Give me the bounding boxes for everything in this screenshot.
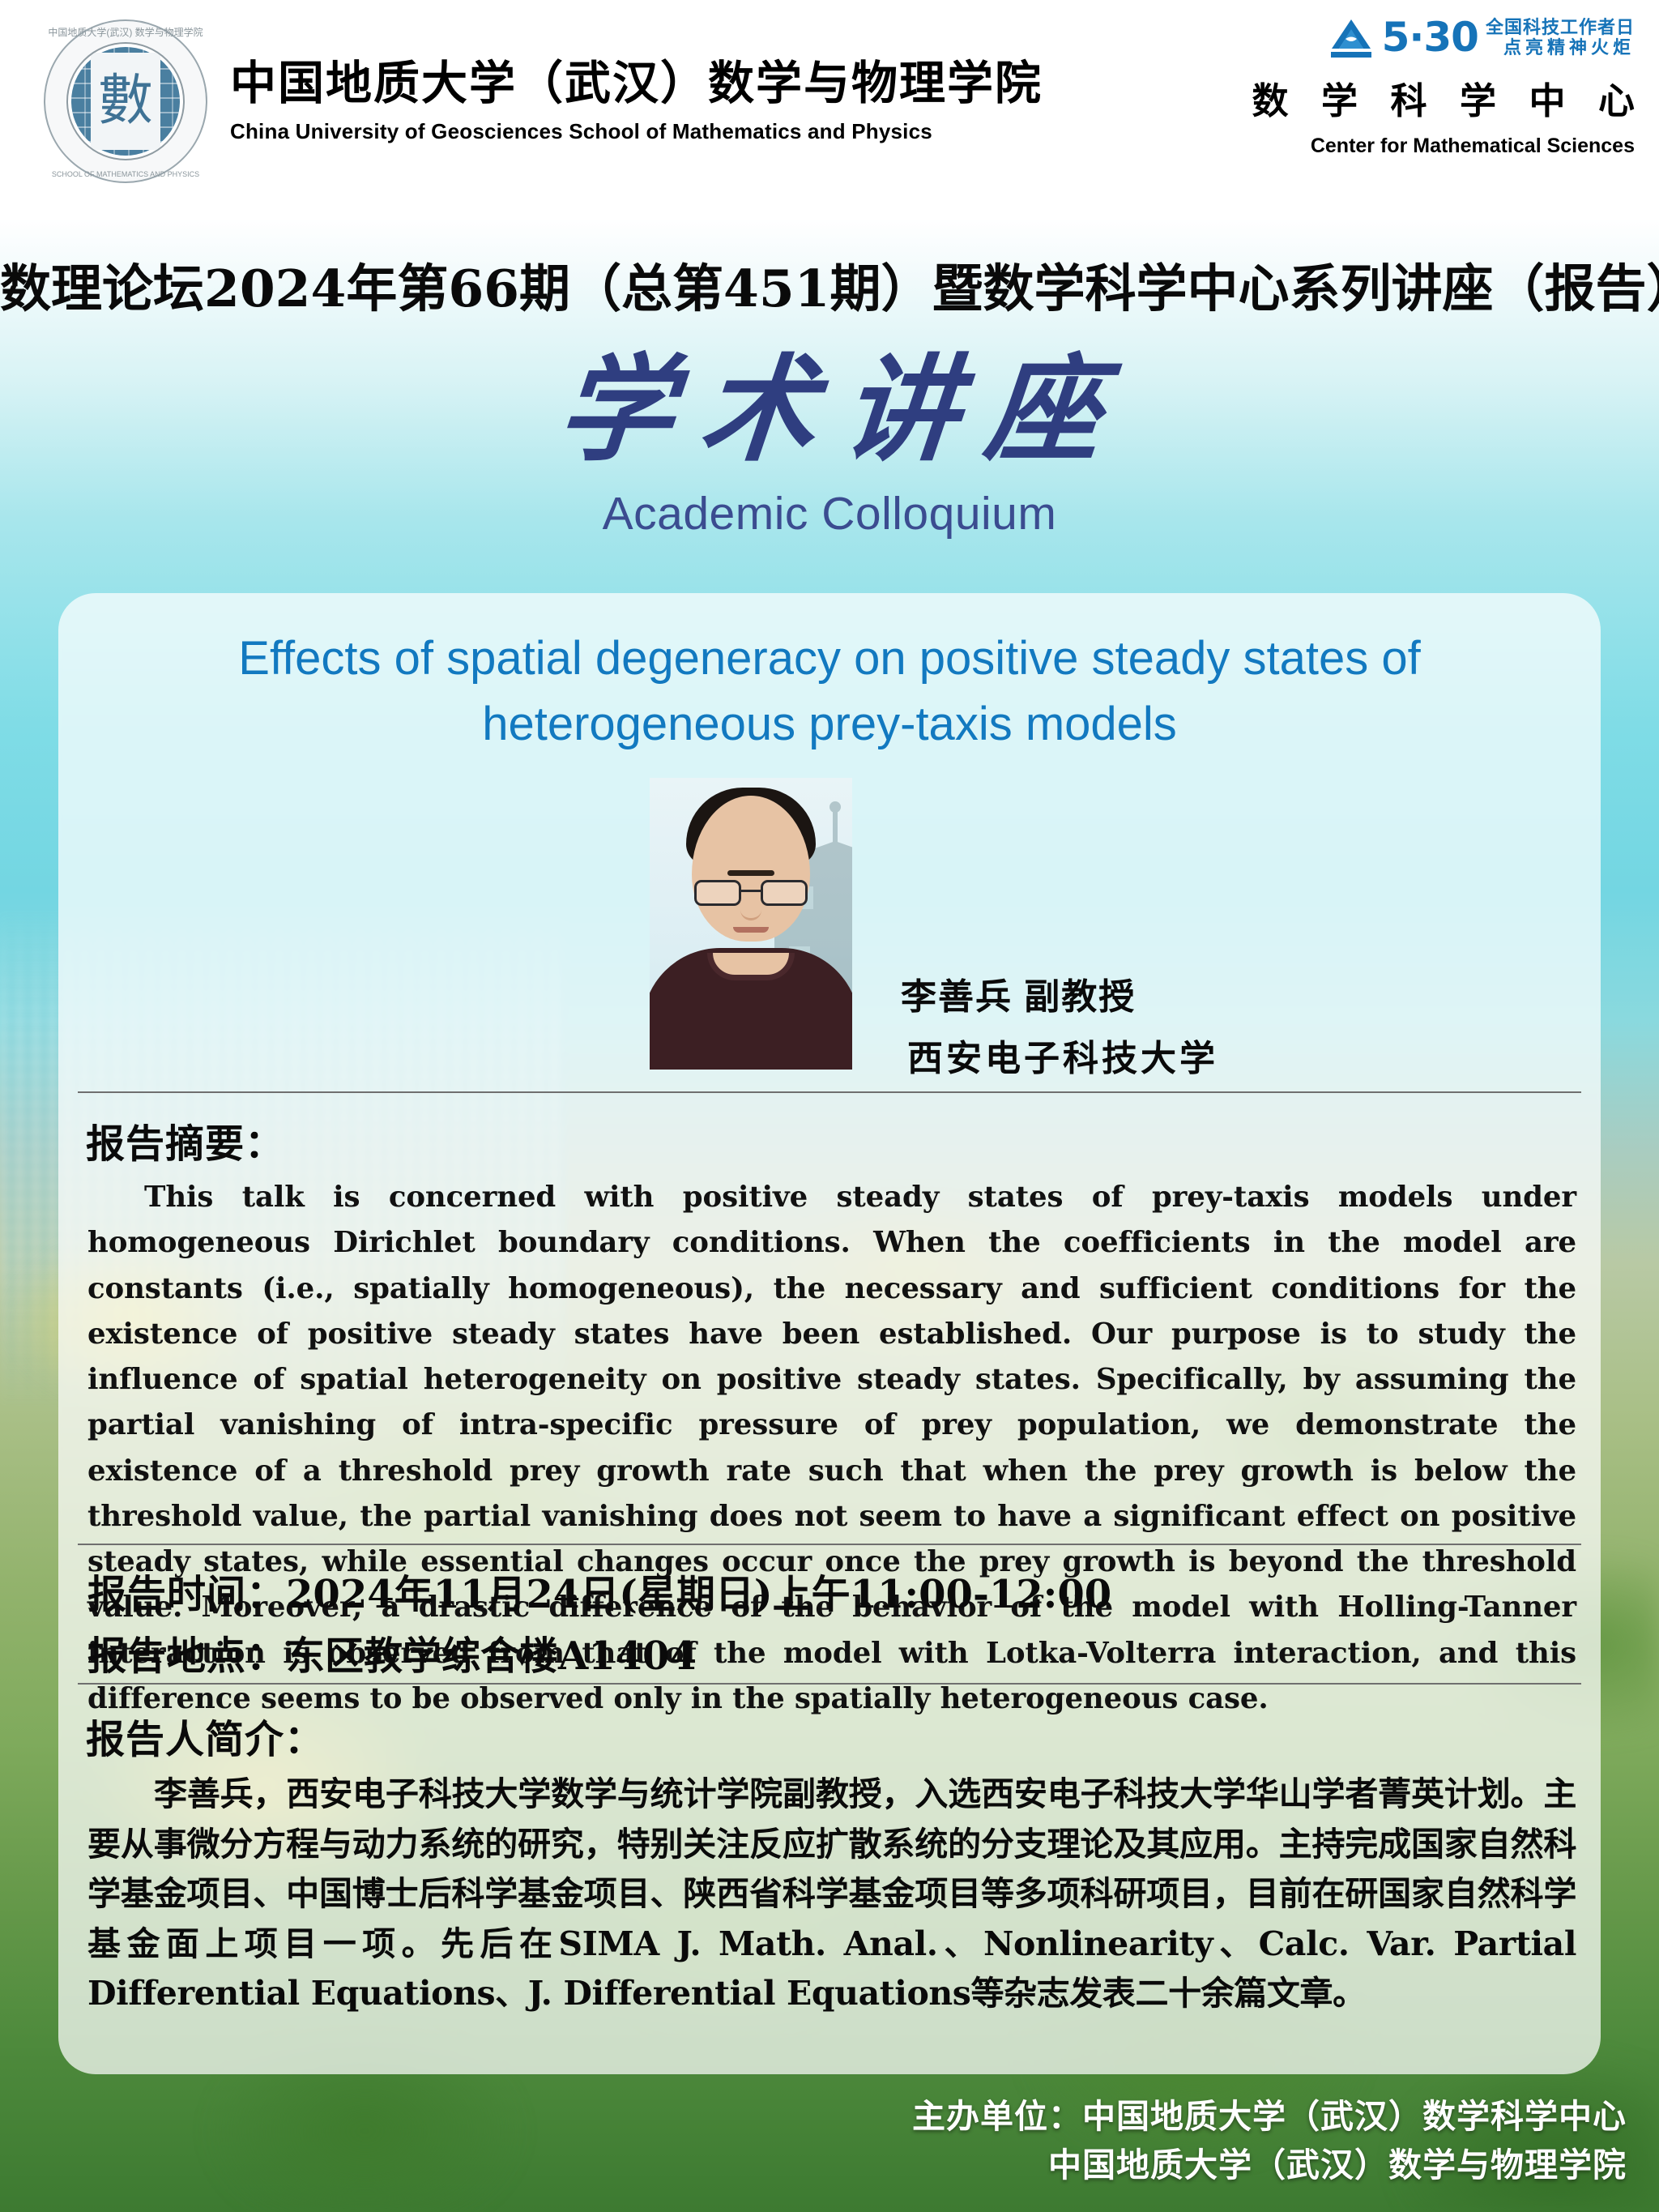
speaker-face — [692, 796, 810, 942]
science-workers-day-badge: 5·30 全国科技工作者日 点亮精神火炬 — [1252, 16, 1635, 58]
poster-root: 中国地质大学(武汉) 数学与物理学院 SCHOOL OF MATHEMATICS… — [0, 0, 1659, 2212]
footer-organizer-line1: 主办单位：中国地质大学（武汉）数学科学中心 — [912, 2093, 1627, 2141]
speaker-info: 李善兵 副教授 西安电子科技大学 — [901, 972, 1218, 1085]
header-right-group: 5·30 全国科技工作者日 点亮精神火炬 数 学 科 学 中 心 Center … — [1252, 16, 1635, 158]
emblem-arc-text-en: SCHOOL OF MATHEMATICS AND PHYSICS — [52, 170, 199, 178]
talk-title: Effects of spatial degeneracy on positiv… — [107, 626, 1552, 757]
divider-above-meta — [78, 1544, 1581, 1545]
science-day-slogan-line1: 全国科技工作者日 — [1486, 19, 1635, 36]
speaker-portrait-image — [650, 778, 852, 1070]
speaker-glasses-icon — [694, 880, 808, 907]
speaker-name-and-title: 李善兵 副教授 — [901, 972, 1218, 1023]
calligraphy-block: 学术讲座 Academic Colloquium — [0, 348, 1659, 540]
glasses-bridge — [741, 890, 761, 892]
bio-text: 李善兵，西安电子科技大学数学与统计学院副教授，入选西安电子科技大学华山学者菁英计… — [87, 1770, 1576, 2019]
talk-place-value: 东区教学综合楼A1404 — [286, 1633, 697, 1679]
header-left-group: 中国地质大学(武汉) 数学与物理学院 SCHOOL OF MATHEMATICS… — [42, 18, 1043, 185]
science-day-slogan-line2: 点亮精神火炬 — [1486, 39, 1635, 57]
emblem-center-glyph — [91, 53, 160, 150]
university-emblem-icon: 中国地质大学(武汉) 数学与物理学院 SCHOOL OF MATHEMATICS… — [42, 18, 209, 185]
speaker-affiliation: 西安电子科技大学 — [907, 1034, 1218, 1084]
math-center-name-cn: 数 学 科 学 中 心 — [1252, 71, 1646, 124]
science-day-mountain-icon — [1328, 16, 1375, 58]
organization-name-en: China University of Geosciences School o… — [230, 119, 1043, 144]
glasses-lens-left — [694, 880, 741, 906]
speaker-nose — [740, 904, 761, 920]
organization-names: 中国地质大学（武汉）数学与物理学院 China University of Ge… — [230, 58, 1043, 145]
speaker-collar — [707, 953, 795, 980]
speaker-sweater — [650, 948, 852, 1070]
talk-place-label: 报告地点： — [87, 1635, 286, 1678]
math-center-name-en: Center for Mathematical Sciences — [1252, 135, 1635, 158]
bio-heading: 报告人简介： — [86, 1707, 324, 1764]
science-day-date: 5·30 — [1382, 18, 1478, 57]
speaker-brow-right — [727, 870, 766, 876]
footer-organizer-line2: 中国地质大学（武汉）数学与物理学院 — [912, 2142, 1627, 2189]
talk-time-label: 报告时间： — [87, 1574, 286, 1616]
forum-series-title: 数理论坛2024年第66期（总第451期）暨数学科学中心系列讲座（报告） — [0, 248, 1659, 322]
speaker-photo — [650, 778, 852, 1070]
divider-above-abstract — [78, 1091, 1581, 1093]
poster-footer: 主办单位：中国地质大学（武汉）数学科学中心 中国地质大学（武汉）数学与物理学院 — [912, 2093, 1627, 2189]
talk-time-row: 报告时间：2024年11月24日(星期日)上午11:00-12:00 — [87, 1562, 1111, 1619]
calligraphy-title-cn: 学术讲座 — [552, 348, 1133, 472]
organization-name-cn: 中国地质大学（武汉）数学与物理学院 — [230, 58, 1043, 110]
calligraphy-title-en: Academic Colloquium — [0, 487, 1659, 540]
emblem-arc-text-cn: 中国地质大学(武汉) 数学与物理学院 — [48, 25, 203, 39]
speaker-mouth — [733, 927, 769, 933]
poster-header: 中国地质大学(武汉) 数学与物理学院 SCHOOL OF MATHEMATICS… — [0, 0, 1659, 217]
abstract-heading: 报告摘要： — [86, 1112, 284, 1168]
divider-above-bio — [78, 1683, 1581, 1685]
talk-place-row: 报告地点：东区教学综合楼A1404 — [87, 1624, 697, 1680]
science-day-slogan: 全国科技工作者日 点亮精神火炬 — [1486, 19, 1635, 57]
bio-text-part2: 等杂志发表二十余篇文章。 — [970, 1975, 1365, 2012]
glasses-lens-right — [761, 880, 808, 906]
emblem-inner-ring — [66, 42, 185, 160]
content-card: Effects of spatial degeneracy on positiv… — [58, 593, 1601, 2074]
talk-time-value: 2024年11月24日(星期日)上午11:00-12:00 — [286, 1572, 1111, 1617]
